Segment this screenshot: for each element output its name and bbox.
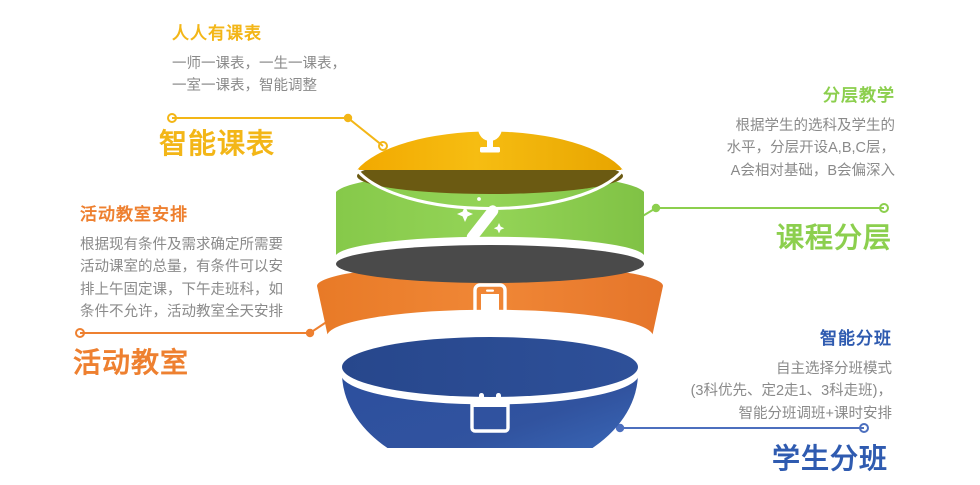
callout-layered-teaching-description: 根据学生的选科及学生的 水平，分层开设A,B,C层， A会相对基础，B会偏深入 xyxy=(615,115,895,182)
callout-layered-teaching: 分层教学 根据学生的选科及学生的 水平，分层开设A,B,C层， A会相对基础，B… xyxy=(615,87,895,182)
callout-timetable-description: 一师一课表，一生一课表， 一室一课表，智能调整 xyxy=(172,53,412,98)
label-smart-class-division-text: 学生分班 xyxy=(772,444,888,475)
callout-smart-class-division: 智能分班 自主选择分班模式 (3科优先、定2走1、3科走班)， 智能分班调班+课… xyxy=(592,330,892,425)
callout-layered-teaching-title: 分层教学 xyxy=(615,87,895,106)
callout-smart-class-division-title: 智能分班 xyxy=(592,330,892,349)
label-layered-teaching: 课程分层 xyxy=(776,223,892,254)
infographic-canvas: 人人有课表 一师一课表，一生一课表， 一室一课表，智能调整 智能课表 分层教学 … xyxy=(0,0,980,485)
label-timetable-text: 智能课表 xyxy=(159,129,275,160)
callout-timetable: 人人有课表 一师一课表，一生一课表， 一室一课表，智能调整 xyxy=(172,25,412,98)
callout-activity-classroom-title: 活动教室安排 xyxy=(80,206,360,225)
callout-timetable-title: 人人有课表 xyxy=(172,25,412,44)
label-smart-class-division: 学生分班 xyxy=(772,444,888,475)
label-layered-teaching-text: 课程分层 xyxy=(776,223,892,254)
callout-smart-class-division-description: 自主选择分班模式 (3科优先、定2走1、3科走班)， 智能分班调班+课时安排 xyxy=(592,358,892,425)
callout-activity-classroom: 活动教室安排 根据现有条件及需求确定所需要 活动课室的总量，有条件可以安 排上午… xyxy=(80,206,360,324)
label-timetable: 智能课表 xyxy=(159,129,275,160)
label-activity-classroom: 活动教室 xyxy=(73,348,189,379)
label-activity-classroom-text: 活动教室 xyxy=(73,348,189,379)
callout-activity-classroom-description: 根据现有条件及需求确定所需要 活动课室的总量，有条件可以安 排上午固定课，下午走… xyxy=(80,234,360,324)
